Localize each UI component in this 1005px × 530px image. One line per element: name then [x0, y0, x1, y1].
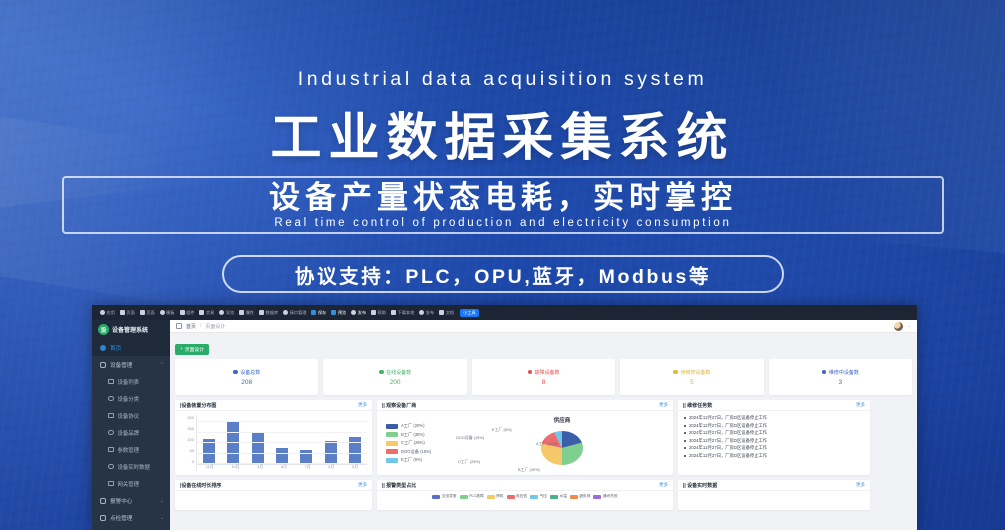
- bar-chart-x-axis: 11月10月9月8月7月6月5月: [197, 464, 367, 471]
- maintenance-tasks-panel: || 维修任务数 更多 2024年12月27日，厂房D区设备停止工作2024年1…: [678, 400, 870, 475]
- y-tick: 150: [187, 426, 194, 431]
- protocol-support-banner: 协议支持：PLC，OPU,蓝牙，Modbus等: [222, 255, 784, 293]
- panel-more-link[interactable]: 更多: [856, 482, 865, 488]
- legend-label: PLC故障: [469, 494, 484, 499]
- legend-item-1[interactable]: B工厂 (30%): [386, 432, 456, 438]
- panel-title: || 设备实时数据: [683, 482, 717, 489]
- sidebar-item-4[interactable]: 设备协议: [92, 407, 170, 424]
- check-icon: [100, 515, 106, 521]
- pie-chart-svg: [535, 427, 589, 469]
- legend-item-4[interactable]: E工厂 (6%): [386, 457, 456, 463]
- clock-icon: [673, 370, 678, 375]
- sidebar-item-label: 设备列表: [118, 378, 140, 386]
- toolbar-item-label: 文档: [446, 310, 454, 316]
- grid-icon: [120, 310, 125, 315]
- alarm-legend-item-0[interactable]: 交流异常: [432, 494, 456, 499]
- subtitle-chinese: 设备产量状态电耗，实时掌控: [64, 180, 942, 216]
- toolbar-item-doc-icon[interactable]: 接口管理: [281, 310, 308, 316]
- legend-swatch: [386, 458, 398, 463]
- x-tick: 9月: [257, 465, 263, 470]
- alarm-legend-item-2[interactable]: 停机: [487, 494, 504, 499]
- sidebar-item-6[interactable]: 参数管理: [92, 441, 170, 458]
- toolbar-item-label: 导览: [226, 310, 234, 316]
- toolbar-item-cloud-icon[interactable]: 应用: [98, 310, 117, 316]
- sidebar-item-label: 首页: [110, 344, 121, 352]
- kpi-label: 维修中设备数: [829, 369, 859, 376]
- bar-chart-y-axis: 200150100500: [180, 415, 196, 471]
- charts-row: |设备装置分布图 更多 200150100500 11月10月9月8月7月6月5…: [175, 400, 912, 475]
- kpi-value: 3: [839, 379, 843, 386]
- page-scroll-area: + 页面设计 设备总数208在线设备数200故障设备数8待维修设备数5维修中设备…: [170, 333, 917, 530]
- pie-chart: A工厂 (20%)B工厂 (30%)C工厂 (29%)DOG设备 (15%)E工…: [382, 415, 668, 471]
- pie-annotation-B工厂: B工厂 (30%): [518, 467, 540, 473]
- plus-icon: +: [180, 347, 183, 352]
- sidebar-item-label: 设备实时数据: [118, 463, 150, 471]
- toolbar-item-doc-icon[interactable]: 文档: [437, 310, 456, 316]
- cloud-icon: [100, 310, 105, 315]
- sidebar-item-10[interactable]: 点检管理⌄: [92, 509, 170, 526]
- toolbar-item-label: 发布: [426, 310, 434, 316]
- x-tick: 5月: [352, 465, 358, 470]
- app-topbar: 首页 / 页面设计 ⌄: [170, 320, 917, 333]
- page-design-button[interactable]: + 页面设计: [175, 344, 209, 355]
- gateway-icon: [108, 481, 114, 487]
- chevron-icon: ⌃: [160, 362, 164, 368]
- protocol-support-text: 协议支持：PLC，OPU,蓝牙，Modbus等: [295, 260, 711, 289]
- panel-header: || 维修任务数 更多: [678, 400, 870, 411]
- alarm-legend-item-7[interactable]: 通讯失败: [593, 494, 617, 499]
- toolbar-item-label: 数据库: [266, 310, 279, 316]
- subtitle-english: Real time control of production and elec…: [64, 217, 942, 229]
- kpi-card-1[interactable]: 在线设备数200: [323, 359, 466, 395]
- kpi-header: 故障设备数: [528, 369, 560, 376]
- send-icon: [351, 310, 356, 315]
- panel-more-link[interactable]: 更多: [659, 482, 668, 488]
- legend-swatch: [593, 495, 601, 499]
- panel-title: |设备在线时长排序: [180, 482, 221, 489]
- gear-icon: [239, 310, 244, 315]
- sidebar-item-label: 设备品牌: [118, 429, 140, 437]
- legend-item-2[interactable]: C工厂 (29%): [386, 440, 456, 446]
- panel-header: || 设备实时数据 更多: [678, 480, 870, 491]
- toolbar-item-save-icon[interactable]: 保存: [309, 310, 328, 316]
- legend-swatch: [386, 449, 398, 454]
- legend-item-0[interactable]: A工厂 (20%): [386, 423, 456, 429]
- kpi-card-row: 设备总数208在线设备数200故障设备数8待维修设备数5维修中设备数3: [175, 359, 912, 395]
- legend-label: 超负荷: [579, 494, 590, 499]
- kpi-value: 200: [390, 379, 401, 386]
- panel-header: |设备在线时长排序 更多: [175, 480, 372, 491]
- app-body: 设 设备管理系统 首页设备管理⌃设备列表设备分类设备协议设备品牌参数管理设备实时…: [92, 320, 917, 530]
- kpi-header: 维修中设备数: [822, 369, 859, 376]
- panel-body: 200150100500 11月10月9月8月7月6月5月: [175, 411, 372, 475]
- supplier-pie-panel: || 观察设备厂商 更多 A工厂 (20%)B工厂 (30%)C工厂 (29%)…: [377, 400, 673, 475]
- kpi-label: 在线设备数: [386, 369, 411, 376]
- info-icon: [822, 370, 827, 375]
- pie-chart-legend: A工厂 (20%)B工厂 (30%)C工厂 (29%)DOG设备 (15%)E工…: [382, 415, 456, 471]
- y-tick: 0: [192, 459, 194, 464]
- bar-chart: 200150100500 11月10月9月8月7月6月5月: [180, 415, 367, 471]
- sidebar-item-0[interactable]: 首页: [92, 339, 170, 356]
- panel-title: || 维修任务数: [683, 402, 712, 409]
- list-item[interactable]: 2024年12月27日，厂房D区设备停止工作: [684, 414, 870, 422]
- pie-chart-title: 供应商: [456, 416, 668, 424]
- legend-label: A工厂 (20%): [401, 423, 425, 429]
- kpi-card-3[interactable]: 待维修设备数5: [620, 359, 763, 395]
- toolbar-item-label: 接口管理: [290, 310, 307, 316]
- toolbar-item-columns-icon[interactable]: 页面: [138, 310, 157, 316]
- alert-icon: [528, 370, 533, 375]
- box-icon: [160, 310, 165, 315]
- toolbar-item-gear-icon[interactable]: 属性: [237, 310, 256, 316]
- legend-swatch: [570, 495, 578, 499]
- y-tick: 100: [187, 437, 194, 442]
- grid-line: [197, 432, 367, 433]
- legend-label: DOG设备 (15%): [401, 449, 431, 455]
- maintenance-task-list: 2024年12月27日，厂房D区设备停止工作2024年12月27日，厂房D区设备…: [678, 411, 870, 460]
- kpi-value: 5: [690, 379, 694, 386]
- legend-label: 水温: [559, 494, 566, 499]
- sidebar-item-label: 设备管理: [110, 361, 132, 369]
- device-distribution-panel: |设备装置分布图 更多 200150100500 11月10月9月8月7月6月5…: [175, 400, 372, 475]
- toolbar-item-box-icon[interactable]: 模板: [158, 310, 177, 316]
- legend-label: 交流异常: [442, 494, 457, 499]
- panel-more-link[interactable]: 更多: [358, 402, 367, 408]
- list-item[interactable]: 2024年12月27日，厂房D区设备停止工作: [684, 444, 870, 452]
- x-tick: 6月: [328, 465, 334, 470]
- sidebar-item-7[interactable]: 设备实时数据: [92, 458, 170, 475]
- toolbar-item-label: 预览: [338, 310, 346, 316]
- brand-logo-icon: 设: [98, 324, 109, 335]
- save-icon: [311, 310, 316, 315]
- sidebar-item-label: 报警中心: [110, 497, 132, 505]
- sidebar-item-8[interactable]: 网关管理: [92, 475, 170, 492]
- legend-swatch: [386, 432, 398, 437]
- toolbar-item-cloud-icon[interactable]: 数据库: [257, 310, 280, 316]
- x-tick: 11月: [206, 465, 214, 470]
- toolbar-item-columns-icon[interactable]: 导览: [217, 310, 236, 316]
- chevron-down-icon[interactable]: ⌄: [907, 323, 911, 329]
- legend-label: 停机: [496, 494, 503, 499]
- legend-label: 通讯失败: [603, 494, 618, 499]
- toolbar-item-send-icon[interactable]: 发布: [349, 310, 368, 316]
- sidebar-item-label: 网关管理: [118, 480, 140, 488]
- legend-swatch: [487, 495, 495, 499]
- legend-swatch: [460, 495, 468, 499]
- pie-annotation-C工厂: C工厂 (29%): [458, 459, 480, 465]
- mail-icon: [371, 310, 376, 315]
- page-design-button-label: 页面设计: [185, 346, 204, 353]
- alarm-icon: [100, 498, 106, 504]
- toolbar-item-label: 保存: [318, 310, 326, 316]
- x-tick: 8月: [281, 465, 287, 470]
- kpi-value: 208: [241, 379, 252, 386]
- collapse-icon[interactable]: [176, 323, 182, 329]
- sidebar: 设 设备管理系统 首页设备管理⌃设备列表设备分类设备协议设备品牌参数管理设备实时…: [92, 320, 170, 530]
- link-icon: [379, 370, 384, 375]
- pie-annotation-DOG设备: DOG设备 (15%): [456, 435, 484, 441]
- alarm-legend-item-4[interactable]: 气压: [530, 494, 547, 499]
- play-icon: [331, 310, 336, 315]
- protocol-icon: [108, 413, 114, 419]
- kpi-label: 待维修设备数: [680, 369, 710, 376]
- upload-icon: [391, 310, 396, 315]
- bar-10月[interactable]: [227, 422, 239, 464]
- toolbar-item-label: 帮助: [378, 310, 386, 316]
- sidebar-item-label: 设备协议: [118, 412, 140, 420]
- sidebar-item-label: 点检管理: [110, 514, 132, 522]
- bar-8月[interactable]: [276, 448, 288, 464]
- panel-body: A工厂 (20%)B工厂 (30%)C工厂 (29%)DOG设备 (15%)E工…: [377, 411, 673, 475]
- sidebar-item-label: 参数管理: [118, 446, 140, 454]
- toolbar-item-upload-icon[interactable]: 下载本地: [389, 310, 416, 316]
- breadcrumb-home[interactable]: 首页: [186, 323, 196, 330]
- toolbar-item-label: 组件: [186, 310, 194, 316]
- sidebar-item-label: 设备分类: [118, 395, 140, 403]
- toolbar-item-label: 应用: [107, 310, 115, 316]
- brand-name: 设备管理系统: [112, 325, 148, 334]
- panel-more-link[interactable]: 更多: [856, 402, 865, 408]
- panel-title: || 报警类型占比: [382, 482, 416, 489]
- cloud-icon: [233, 370, 238, 375]
- pie-chart-area: 供应商 A工厂 (20%)B工厂 (30%)C工厂 (29%)DOG设备 (15…: [456, 415, 668, 471]
- list-icon: [108, 379, 114, 385]
- main-content: 首页 / 页面设计 ⌄ + 页面设计 设备总数208在线设备数200故障设备数8…: [170, 320, 917, 530]
- realtime-icon: [108, 464, 114, 470]
- brand-icon: [108, 430, 114, 436]
- alarm-legend-item-3[interactable]: 电压低: [507, 494, 528, 499]
- legend-swatch: [550, 495, 558, 499]
- bar-chart-bars: [197, 415, 367, 464]
- bar-9月[interactable]: [252, 433, 264, 465]
- toolbar-item-grid-icon[interactable]: 页面: [118, 310, 137, 316]
- device-icon: [100, 362, 106, 368]
- toolbar-item-refresh-icon[interactable]: 交易: [197, 310, 216, 316]
- toolbar-item-download-icon[interactable]: 发布: [417, 310, 436, 316]
- alarm-type-legend: 交流异常PLC故障停机电压低气压水温超负荷通讯失败: [377, 491, 673, 502]
- legend-label: 气压: [540, 494, 547, 499]
- clock-icon: [108, 396, 114, 402]
- home-icon: [100, 345, 106, 351]
- grid-line: [197, 442, 367, 443]
- alarm-legend-item-5[interactable]: 水温: [550, 494, 567, 499]
- panel-more-link[interactable]: 更多: [358, 482, 367, 488]
- kpi-value: 8: [542, 379, 546, 386]
- toolbar-row: + 页面设计: [175, 337, 912, 355]
- doc-icon: [439, 310, 444, 315]
- alarm-type-panel: || 报警类型占比 更多 交流异常PLC故障停机电压低气压水温超负荷通讯失败: [377, 480, 673, 510]
- toolbar-item-play-icon[interactable]: 预览: [329, 310, 348, 316]
- toolbar-badge[interactable]: 小工具: [460, 309, 479, 317]
- app-screenshot-window: 应用页面页面模板组件交易导览属性数据库接口管理保存预览发布帮助下载本地发布文档小…: [92, 305, 917, 530]
- refresh-icon: [199, 310, 204, 315]
- sidebar-item-11[interactable]: 维修管理⌄: [92, 526, 170, 530]
- legend-label: C工厂 (29%): [401, 440, 425, 446]
- sidebar-item-9[interactable]: 报警中心⌄: [92, 492, 170, 509]
- grid-line: [197, 421, 367, 422]
- legend-label: B工厂 (30%): [401, 432, 425, 438]
- y-tick: 200: [187, 415, 194, 420]
- legend-swatch: [386, 441, 398, 446]
- kpi-card-2[interactable]: 故障设备数8: [472, 359, 615, 395]
- sidebar-item-5[interactable]: 设备品牌: [92, 424, 170, 441]
- legend-swatch: [507, 495, 515, 499]
- list-item[interactable]: 2024年12月27日，厂房D区设备停止工作: [684, 452, 870, 460]
- doc-icon: [283, 310, 288, 315]
- legend-swatch: [530, 495, 538, 499]
- x-tick: 10月: [231, 465, 239, 470]
- alarm-legend-item-6[interactable]: 超负荷: [570, 494, 591, 499]
- toolbar-item-label: 发布: [358, 310, 366, 316]
- pie-annotation-E工厂: E工厂 (6%): [492, 427, 512, 433]
- panel-title: |设备装置分布图: [180, 402, 216, 409]
- breadcrumb-separator: /: [200, 323, 201, 329]
- kpi-header: 设备总数: [233, 369, 260, 376]
- page-title: 工业数据采集系统: [0, 96, 1005, 170]
- pie-annotation-A工厂: A工厂 (20%): [536, 441, 558, 447]
- columns-icon: [140, 310, 145, 315]
- columns-icon: [219, 310, 224, 315]
- cloud-icon: [259, 310, 264, 315]
- sidebar-item-2[interactable]: 设备列表: [92, 373, 170, 390]
- download-icon: [419, 310, 424, 315]
- sidebar-item-3[interactable]: 设备分类: [92, 390, 170, 407]
- kpi-card-4[interactable]: 维修中设备数3: [769, 359, 912, 395]
- toolbar-item-table-icon[interactable]: 组件: [178, 310, 197, 316]
- toolbar-item-label: 页面: [146, 310, 154, 316]
- hero-eyebrow: Industrial data acquisition system: [0, 68, 1005, 91]
- kpi-label: 故障设备数: [535, 369, 560, 376]
- sidebar-item-1[interactable]: 设备管理⌃: [92, 356, 170, 373]
- param-icon: [108, 447, 114, 453]
- list-item[interactable]: 2024年12月27日，厂房D区设备停止工作: [684, 437, 870, 445]
- legend-swatch: [432, 495, 440, 499]
- sidebar-nav: 首页设备管理⌃设备列表设备分类设备协议设备品牌参数管理设备实时数据网关管理报警中…: [92, 339, 170, 530]
- x-tick: 7月: [305, 465, 311, 470]
- legend-item-3[interactable]: DOG设备 (15%): [386, 449, 456, 455]
- device-uptime-panel: |设备在线时长排序 更多: [175, 480, 372, 510]
- panel-header: || 报警类型占比 更多: [377, 480, 673, 491]
- realtime-data-panel: || 设备实时数据 更多: [678, 480, 870, 510]
- avatar[interactable]: [894, 322, 903, 331]
- chevron-icon: ⌄: [160, 515, 164, 521]
- legend-swatch: [386, 424, 398, 429]
- kpi-header: 在线设备数: [379, 369, 411, 376]
- toolbar-item-label: 模板: [166, 310, 174, 316]
- panel-header: || 观察设备厂商 更多: [377, 400, 673, 411]
- toolbar-item-label: 交易: [206, 310, 214, 316]
- editor-toolbar: 应用页面页面模板组件交易导览属性数据库接口管理保存预览发布帮助下载本地发布文档小…: [92, 305, 917, 320]
- table-icon: [180, 310, 185, 315]
- legend-label: 电压低: [516, 494, 527, 499]
- list-item[interactable]: 2024年12月27日，厂房D区设备停止工作: [684, 422, 870, 430]
- toolbar-item-mail-icon[interactable]: 帮助: [369, 310, 388, 316]
- panel-header: |设备装置分布图 更多: [175, 400, 372, 411]
- subtitle-banner: 设备产量状态电耗，实时掌控 Real time control of produ…: [62, 176, 944, 234]
- panel-title: || 观察设备厂商: [382, 402, 416, 409]
- alarm-legend-item-1[interactable]: PLC故障: [460, 494, 484, 499]
- bottom-panel-row: |设备在线时长排序 更多 || 报警类型占比 更多 交流异常PLC故障停机电压低…: [175, 480, 912, 510]
- panel-more-link[interactable]: 更多: [659, 402, 668, 408]
- bar-chart-plot: 11月10月9月8月7月6月5月: [196, 415, 367, 471]
- toolbar-item-label: 页面: [126, 310, 134, 316]
- grid-line: [197, 463, 367, 464]
- y-tick: 50: [190, 448, 194, 453]
- grid-line: [197, 453, 367, 454]
- toolbar-item-label: 属性: [246, 310, 254, 316]
- brand: 设 设备管理系统: [92, 320, 170, 339]
- list-item[interactable]: 2024年12月27日，厂房D区设备停止工作: [684, 429, 870, 437]
- chevron-icon: ⌄: [160, 498, 164, 504]
- kpi-card-0[interactable]: 设备总数208: [175, 359, 318, 395]
- legend-label: E工厂 (6%): [401, 457, 422, 463]
- breadcrumb-current: 页面设计: [205, 323, 225, 330]
- kpi-header: 待维修设备数: [673, 369, 710, 376]
- kpi-label: 设备总数: [240, 369, 260, 376]
- toolbar-item-label: 下载本地: [398, 310, 415, 316]
